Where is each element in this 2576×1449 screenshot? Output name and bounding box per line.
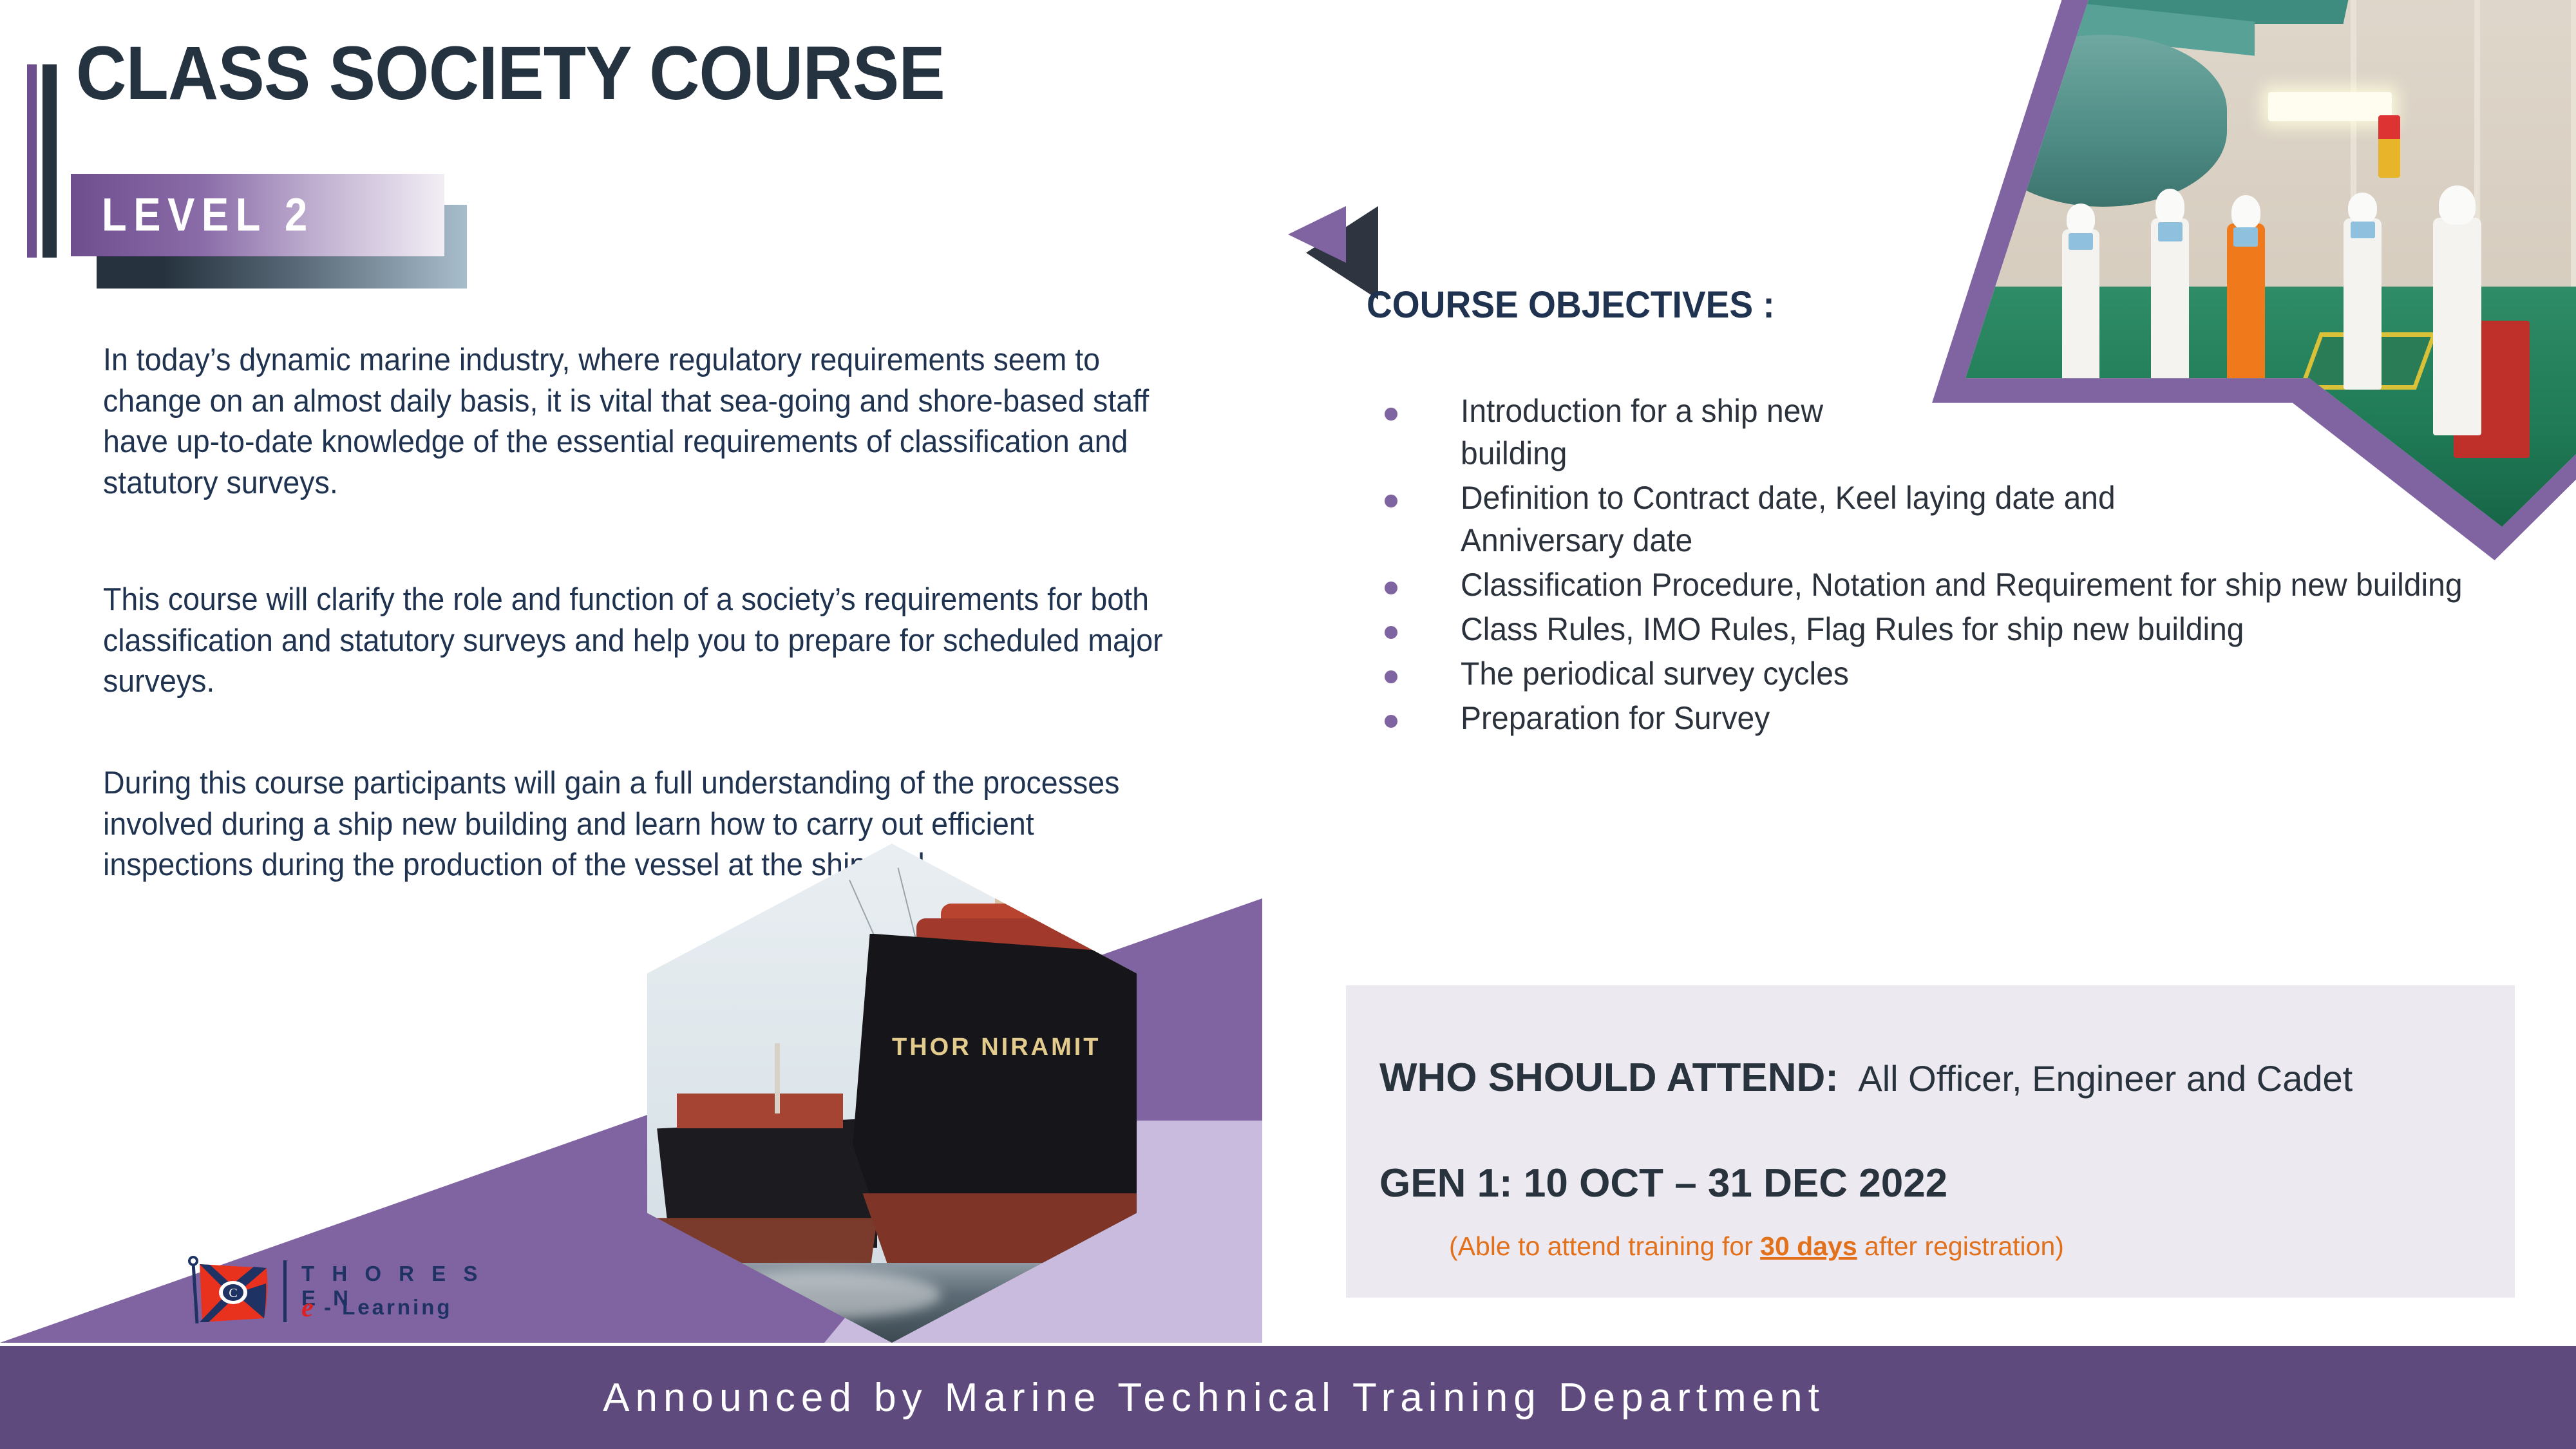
- bullet-dot-icon: [1385, 408, 1397, 421]
- course-dates: GEN 1: 10 OCT – 31 DEC 2022: [1379, 1160, 1947, 1206]
- list-item: Preparation for Survey: [1385, 697, 2544, 739]
- ceiling-light: [2268, 92, 2392, 120]
- helmet-icon: [2439, 185, 2476, 225]
- note-prefix: (Able to attend training for: [1449, 1231, 1760, 1261]
- face-mask-icon: [2069, 233, 2093, 251]
- thoresen-elearning-logo: C T H O R E S E N e - Learning: [187, 1253, 489, 1330]
- logo-divider: [283, 1260, 287, 1322]
- attend-line: WHO SHOULD ATTEND: All Officer, Engineer…: [1379, 1055, 2353, 1101]
- intro-paragraph-1: In today’s dynamic marine industry, wher…: [103, 340, 1180, 504]
- objective-text: The periodical survey cycles: [1461, 652, 2202, 695]
- alarm-beacon: [2378, 115, 2400, 178]
- bullet-dot-icon: [1385, 715, 1397, 728]
- helmet-icon: [2231, 195, 2260, 229]
- logo-e-mark: e: [301, 1293, 314, 1323]
- bullet-dot-icon: [1385, 582, 1397, 594]
- background-vessel-mast: [775, 1043, 780, 1113]
- bullet-dot-icon: [1385, 495, 1397, 507]
- note-emphasis: 30 days: [1760, 1231, 1857, 1261]
- intro-paragraph-2: This course will clarify the role and fu…: [103, 580, 1223, 703]
- crew-member: [2344, 218, 2382, 390]
- objective-text: Introduction for a ship new building: [1461, 390, 1856, 475]
- level-badge-label: LEVEL 2: [102, 192, 314, 238]
- objective-text: Preparation for Survey: [1461, 697, 2202, 739]
- page-title: CLASS SOCIETY COURSE: [76, 35, 945, 111]
- bullet-dot-icon: [1385, 670, 1397, 683]
- background-vessel-deck: [677, 1094, 843, 1128]
- face-mask-icon: [2233, 227, 2258, 246]
- attend-label: WHO SHOULD ATTEND:: [1379, 1056, 1839, 1100]
- list-item: Class Rules, IMO Rules, Flag Rules for s…: [1385, 608, 2544, 650]
- course-objectives-heading: COURSE OBJECTIVES :: [1367, 283, 1775, 327]
- face-mask-icon: [2158, 222, 2183, 241]
- slide-canvas: CLASS SOCIETY COURSE LEVEL 2 In today’s …: [0, 0, 2576, 1449]
- objective-text: Classification Procedure, Notation and R…: [1461, 563, 2499, 606]
- accent-bar-navy: [43, 64, 57, 258]
- face-mask-icon: [2351, 222, 2375, 239]
- logo-learning-text: - Learning: [324, 1295, 453, 1320]
- footer-text: Announced by Marine Technical Training D…: [0, 1375, 2576, 1421]
- helmet-icon: [2067, 204, 2096, 234]
- accent-bar-purple: [27, 64, 37, 258]
- footer-bar: Announced by Marine Technical Training D…: [0, 1346, 2576, 1449]
- thoresen-flag-icon: C: [187, 1255, 270, 1326]
- helmet-icon: [2348, 193, 2377, 223]
- objective-text: Definition to Contract date, Keel laying…: [1461, 477, 2116, 562]
- level-badge: LEVEL 2: [71, 174, 496, 296]
- list-item: The periodical survey cycles: [1385, 652, 2544, 695]
- ship-name-text: THOR NIRAMIT: [892, 1034, 1101, 1061]
- section-arrow-marker: [1288, 206, 1378, 299]
- note-suffix: after registration): [1857, 1231, 2064, 1261]
- helmet-icon: [2155, 189, 2184, 223]
- who-should-attend-box: WHO SHOULD ATTEND: All Officer, Engineer…: [1346, 985, 2515, 1298]
- bullet-dot-icon: [1385, 626, 1397, 639]
- registration-note: (Able to attend training for 30 days aft…: [1449, 1231, 2064, 1262]
- list-item: Classification Procedure, Notation and R…: [1385, 563, 2544, 606]
- intro-paragraph-3: During this course participants will gai…: [103, 763, 1131, 886]
- list-item: Definition to Contract date, Keel laying…: [1385, 477, 2544, 562]
- objective-text: Class Rules, IMO Rules, Flag Rules for s…: [1461, 608, 2501, 650]
- attend-value: All Officer, Engineer and Cadet: [1858, 1058, 2353, 1099]
- svg-text:C: C: [229, 1286, 237, 1300]
- crew-member: [2062, 229, 2100, 401]
- crew-member-reaching: [2433, 218, 2481, 435]
